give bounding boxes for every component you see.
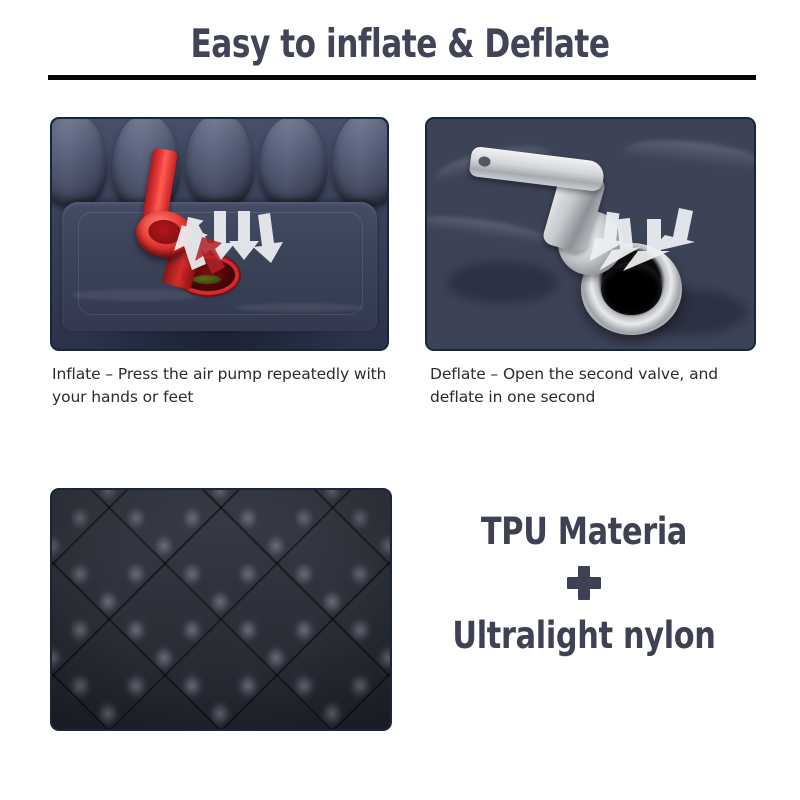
fabric-fold [622,135,756,182]
baffle [259,118,327,207]
deflate-caption: Deflate – Open the second valve, and def… [430,363,760,409]
deflate-image-panel [425,117,756,351]
baffle [50,117,107,206]
deflate-product-photo [427,119,754,349]
fabric-fold [425,211,552,253]
fabric-crease [72,289,206,301]
baffle [185,117,253,206]
material-callout: TPU Materia Ultralight nylon [404,510,764,658]
fabric-shadow [447,262,558,303]
quilted-texture-photo [52,490,390,729]
pad-baffles [50,117,389,206]
baffle [332,117,389,206]
material-line-secondary: Ultralight nylon [436,614,731,658]
material-line-primary: TPU Materia [436,510,731,554]
page-title: Easy to inflate & Deflate [80,22,720,68]
inflate-image-panel [50,117,389,351]
inflate-caption: Inflate – Press the air pump repeatedly … [52,363,392,409]
inflate-product-photo [52,119,387,349]
plus-sign-icon [567,566,601,600]
title-divider [48,75,756,80]
texture-image-panel [50,488,392,731]
photo-vignette [52,490,390,729]
